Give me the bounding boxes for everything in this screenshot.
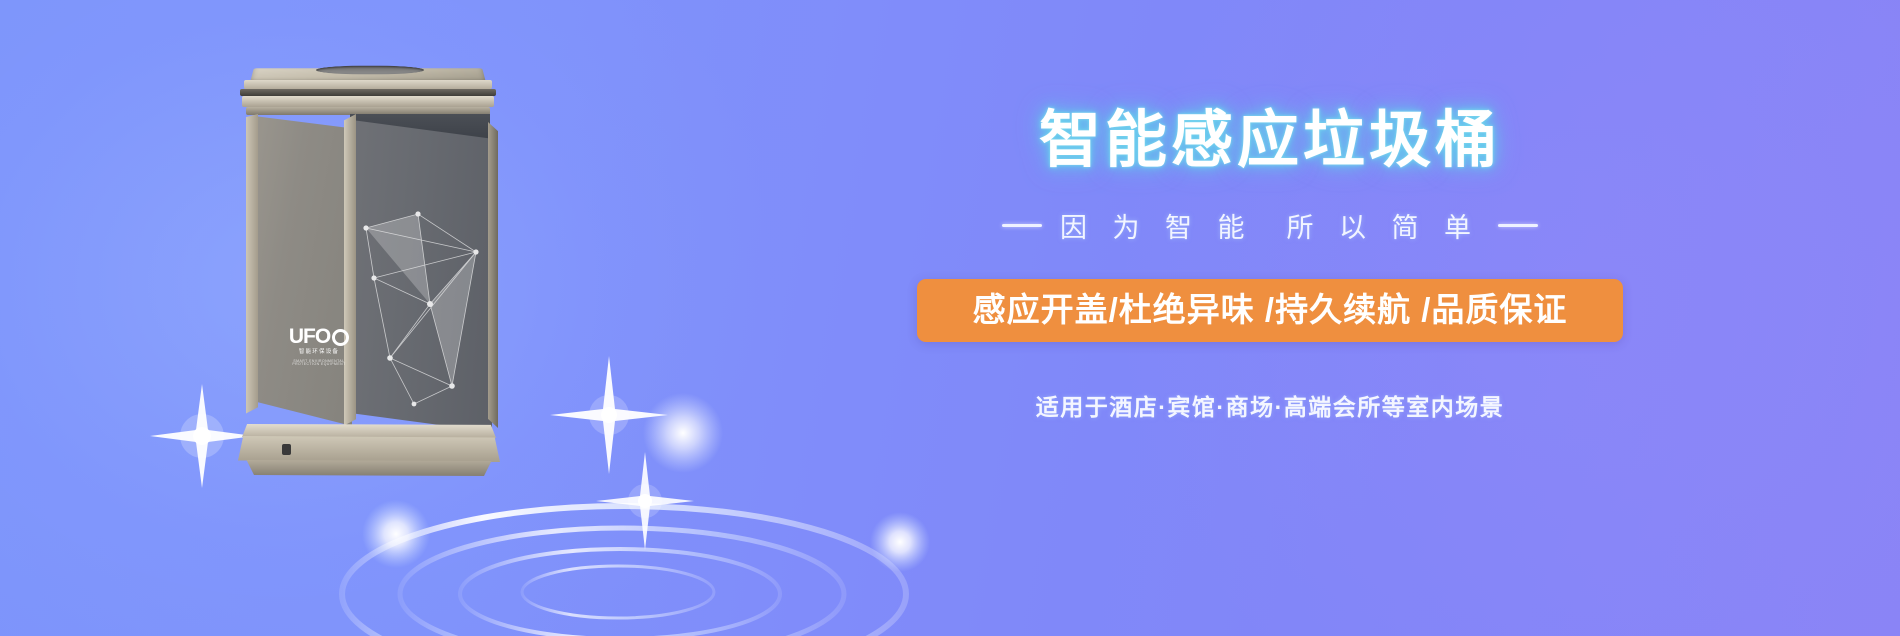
bin-face-left (254, 116, 352, 426)
brand-logo: UFO 智能环保设备 SMART ENVIRONMENTAL PROTECTIO… (284, 326, 354, 366)
polygon-network-graphic (356, 208, 492, 408)
feature-badge: 感应开盖/杜绝异味 /持久续航 /品质保证 (917, 279, 1623, 342)
trash-bin-body: UFO 智能环保设备 SMART ENVIRONMENTAL PROTECTIO… (238, 58, 498, 458)
usage-scenario-text: 适用于酒店·宾馆·商场·高端会所等室内场景 (880, 388, 1660, 422)
bin-base-bottom (244, 460, 494, 476)
promo-banner: UFO 智能环保设备 SMART ENVIRONMENTAL PROTECTIO… (0, 0, 1900, 636)
bin-trim-dark (240, 89, 496, 96)
bin-base-middle (238, 436, 500, 462)
brand-logo-ring-icon (332, 329, 349, 346)
product-image: UFO 智能环保设备 SMART ENVIRONMENTAL PROTECTIO… (238, 58, 658, 518)
brand-logo-text: UFO (289, 326, 330, 347)
dash-right-decoration (1498, 224, 1538, 227)
bin-base-slot (282, 444, 291, 455)
marketing-copy: 智能感应垃圾桶 因 为 智 能 所 以 简 单 感应开盖/杜绝异味 /持久续航 … (880, 110, 1660, 422)
subtitle-row: 因 为 智 能 所 以 简 单 (880, 206, 1660, 245)
subtitle-text: 因 为 智 能 所 以 简 单 (1060, 206, 1480, 245)
page-title: 智能感应垃圾桶 (880, 110, 1660, 172)
floor-ripple-rings (334, 494, 954, 636)
brand-logo-mark: UFO (284, 326, 354, 347)
brand-logo-cn: 智能环保设备 (284, 350, 354, 356)
bin-lid-opening (315, 66, 424, 74)
sparkle-star-top-right (544, 350, 674, 480)
dash-left-decoration (1002, 224, 1042, 227)
brand-logo-en: SMART ENVIRONMENTAL PROTECTION EQUIPMENT (284, 360, 354, 367)
bin-trim-mid (242, 96, 494, 107)
bin-corner-post (344, 114, 356, 432)
bin-trim-upper (244, 80, 492, 89)
bin-base-top (242, 424, 496, 438)
sparkle-glow-dot (638, 388, 728, 478)
bin-edge-left (246, 114, 258, 426)
feature-badge-text: 感应开盖/杜绝异味 /持久续航 /品质保证 (973, 291, 1568, 328)
